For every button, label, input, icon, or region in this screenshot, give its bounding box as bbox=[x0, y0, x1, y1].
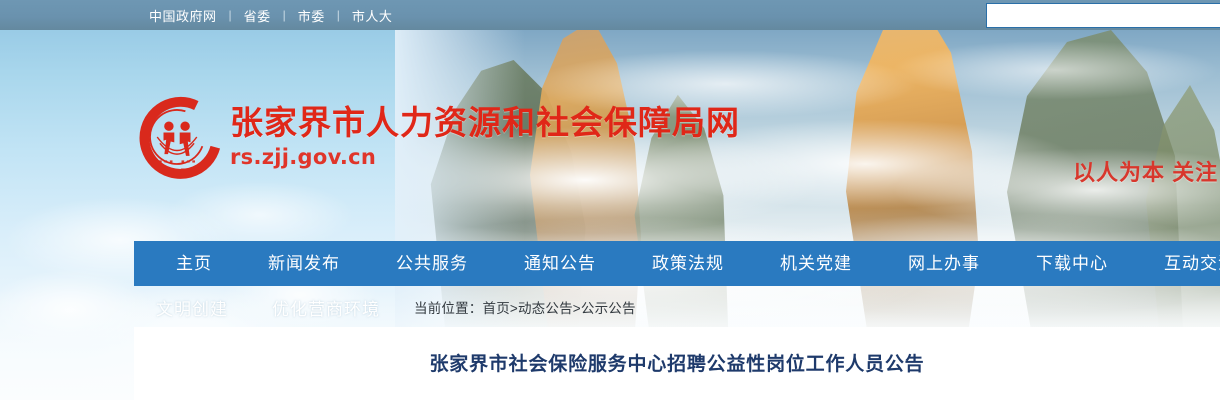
toplink-china-gov[interactable]: 中国政府网 bbox=[137, 6, 229, 25]
nav-item-public-services[interactable]: 公共服务 bbox=[368, 241, 496, 286]
toplink-city-peoples-congress[interactable]: 市人大 bbox=[340, 6, 405, 25]
primary-nav: 主页 新闻发布 公共服务 通知公告 政策法规 机关党建 网上办事 下载中心 互动… bbox=[134, 241, 1220, 286]
nav-item-download-center[interactable]: 下载中心 bbox=[1008, 241, 1136, 286]
top-link-group: 中国政府网 | 省委 | 市委 | 市人大 bbox=[137, 6, 404, 25]
search-input[interactable] bbox=[987, 4, 1220, 27]
nav-item-online-services[interactable]: 网上办事 bbox=[880, 241, 1008, 286]
nav-item-interaction[interactable]: 互动交流 bbox=[1136, 241, 1220, 286]
masthead-slogan: 以人为本 关注 bbox=[1073, 155, 1218, 187]
nav-item-policies[interactable]: 政策法规 bbox=[624, 241, 752, 286]
mohrss-emblem-logo-icon bbox=[132, 92, 222, 182]
subnav-item-business-environment[interactable]: 优化营商环境 bbox=[250, 295, 402, 320]
toplink-city-party[interactable]: 市委 bbox=[286, 6, 337, 25]
site-domain: rs.zjj.gov.cn bbox=[230, 146, 740, 169]
brand-text: 张家界市人力资源和社会保障局网 rs.zjj.gov.cn bbox=[230, 105, 740, 169]
nav-item-home[interactable]: 主页 bbox=[134, 241, 240, 286]
search-box[interactable] bbox=[986, 3, 1220, 28]
nav-item-news[interactable]: 新闻发布 bbox=[240, 241, 368, 286]
secondary-nav-row: 文明创建 优化营商环境 当前位置：首页>动态公告>公示公告 bbox=[134, 288, 1220, 326]
top-separator: | bbox=[283, 8, 286, 22]
site-title: 张家界市人力资源和社会保障局网 bbox=[230, 105, 740, 142]
subnav-item-civility-building[interactable]: 文明创建 bbox=[134, 295, 250, 320]
top-separator: | bbox=[229, 8, 232, 22]
nav-item-announcements[interactable]: 通知公告 bbox=[496, 241, 624, 286]
breadcrumb: 当前位置：首页>动态公告>公示公告 bbox=[414, 297, 636, 317]
toplink-provincial-party[interactable]: 省委 bbox=[232, 6, 283, 25]
article-content-card: 张家界市社会保险服务中心招聘公益性岗位工作人员公告 bbox=[134, 327, 1220, 400]
top-separator: | bbox=[337, 8, 340, 22]
brand-block[interactable]: 张家界市人力资源和社会保障局网 rs.zjj.gov.cn bbox=[132, 92, 740, 182]
top-utility-bar: 中国政府网 | 省委 | 市委 | 市人大 bbox=[0, 0, 1220, 30]
article-title: 张家界市社会保险服务中心招聘公益性岗位工作人员公告 bbox=[134, 327, 1220, 376]
page-root: 中国政府网 | 省委 | 市委 | 市人大 bbox=[0, 0, 1220, 400]
masthead: 张家界市人力资源和社会保障局网 rs.zjj.gov.cn 以人为本 关注 bbox=[0, 30, 1220, 240]
nav-item-party-building[interactable]: 机关党建 bbox=[752, 241, 880, 286]
